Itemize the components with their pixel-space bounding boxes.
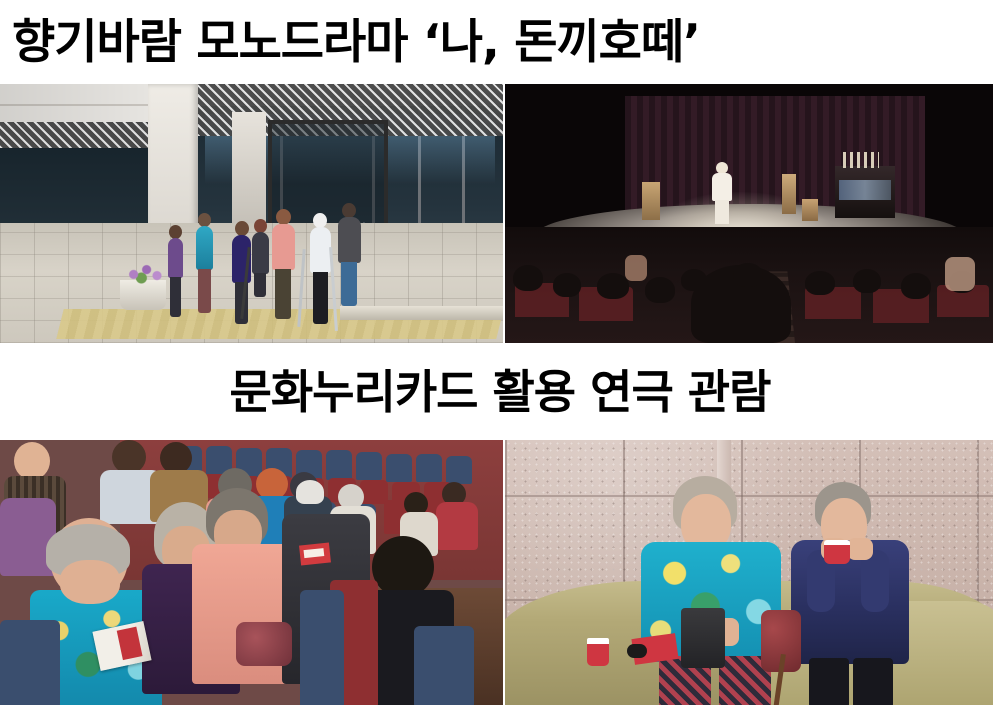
seated-person-right (791, 482, 909, 705)
crossbody-bag (681, 608, 725, 668)
audience-head (733, 263, 763, 287)
audience-head (901, 273, 931, 299)
visitor-6 (310, 213, 330, 325)
photo-lobby-bench (505, 440, 993, 705)
raised-hand (625, 255, 647, 281)
clapping-hands (945, 257, 975, 291)
phone-on-bench (627, 644, 647, 658)
visitor-5 (272, 209, 294, 321)
handbag (236, 622, 292, 666)
audience-head (805, 271, 835, 295)
audience-head (553, 273, 581, 297)
paper-cup-on-bench (587, 638, 609, 666)
entrance-step (340, 306, 503, 320)
audience-head (853, 269, 881, 293)
photo-stage-performance (505, 84, 993, 343)
seated-person-left (641, 476, 781, 705)
left-canopy-mesh (0, 122, 160, 148)
flower-planter (120, 280, 166, 310)
lavender-flowers (118, 260, 170, 284)
section-caption: 문화누리카드 활용 연극 관람 (0, 344, 1000, 440)
stage-prop-cart (835, 166, 895, 218)
audience-head (597, 273, 629, 299)
page-title: 향기바람 모노드라마 ‘나, 돈끼호떼’ (0, 0, 1000, 84)
audience-head (645, 277, 675, 303)
held-paper-cup (824, 540, 850, 564)
stage-prop-lectern (642, 182, 660, 220)
visitor-1 (168, 225, 182, 321)
visitor-7 (338, 203, 360, 307)
solo-performer (712, 162, 732, 224)
photo-audience-seats (0, 440, 503, 705)
ticket-card (299, 542, 331, 565)
stage-prop-column (782, 174, 796, 214)
stage-prop-box (802, 199, 818, 221)
photo-theater-entrance: 소공연장 (Small Theater) 신한은행 (0, 84, 503, 343)
poster-root: 향기바람 모노드라마 ‘나, 돈끼호떼’ 소공연장 (Small Theater… (0, 0, 1000, 712)
audience-head (513, 265, 543, 291)
visitor-2 (196, 213, 212, 317)
visitor-4 (252, 219, 268, 297)
